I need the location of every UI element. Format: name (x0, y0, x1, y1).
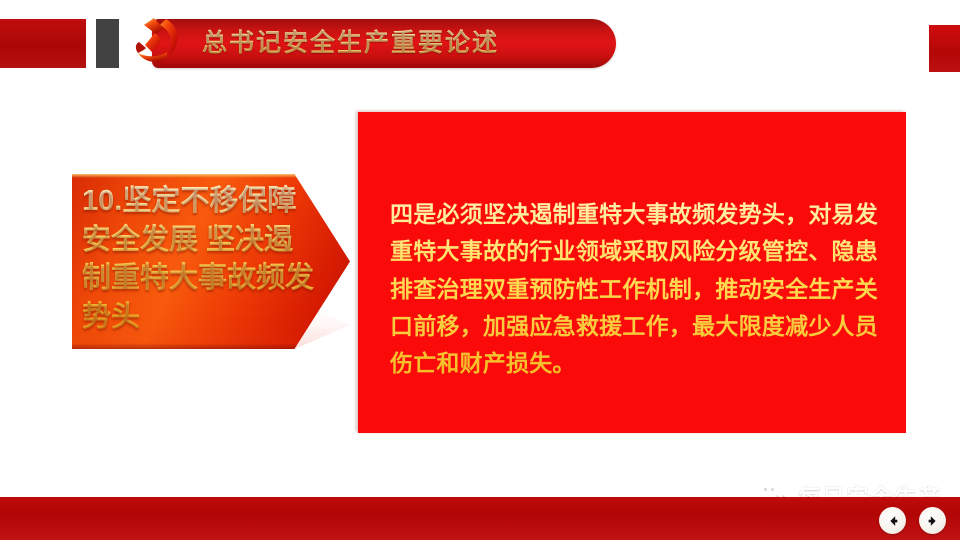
arrow-right-icon (926, 514, 940, 528)
header-gray-block (96, 19, 119, 68)
slide-canvas: 总书记安全生产重要论述 (0, 0, 960, 540)
content-panel: 四是必须坚决遏制重特大事故频发势头，对易发重特大事故的行业领域采取风险分级管控、… (358, 112, 906, 433)
slide-navigation (879, 507, 946, 534)
arrow-left-icon (886, 514, 900, 528)
prev-slide-button[interactable] (879, 507, 906, 534)
header-banner: 总书记安全生产重要论述 (152, 19, 616, 68)
header-banner-title: 总书记安全生产重要论述 (202, 19, 499, 68)
next-slide-button[interactable] (919, 507, 946, 534)
cpc-hammer-sickle-emblem-icon (126, 9, 188, 71)
left-banner-reflection (72, 301, 350, 349)
header-top-right-block (929, 25, 960, 72)
content-body-text: 四是必须坚决遏制重特大事故频发势头，对易发重特大事故的行业领域采取风险分级管控、… (390, 196, 878, 382)
header-red-block (0, 19, 86, 68)
footer-bar (0, 497, 960, 540)
